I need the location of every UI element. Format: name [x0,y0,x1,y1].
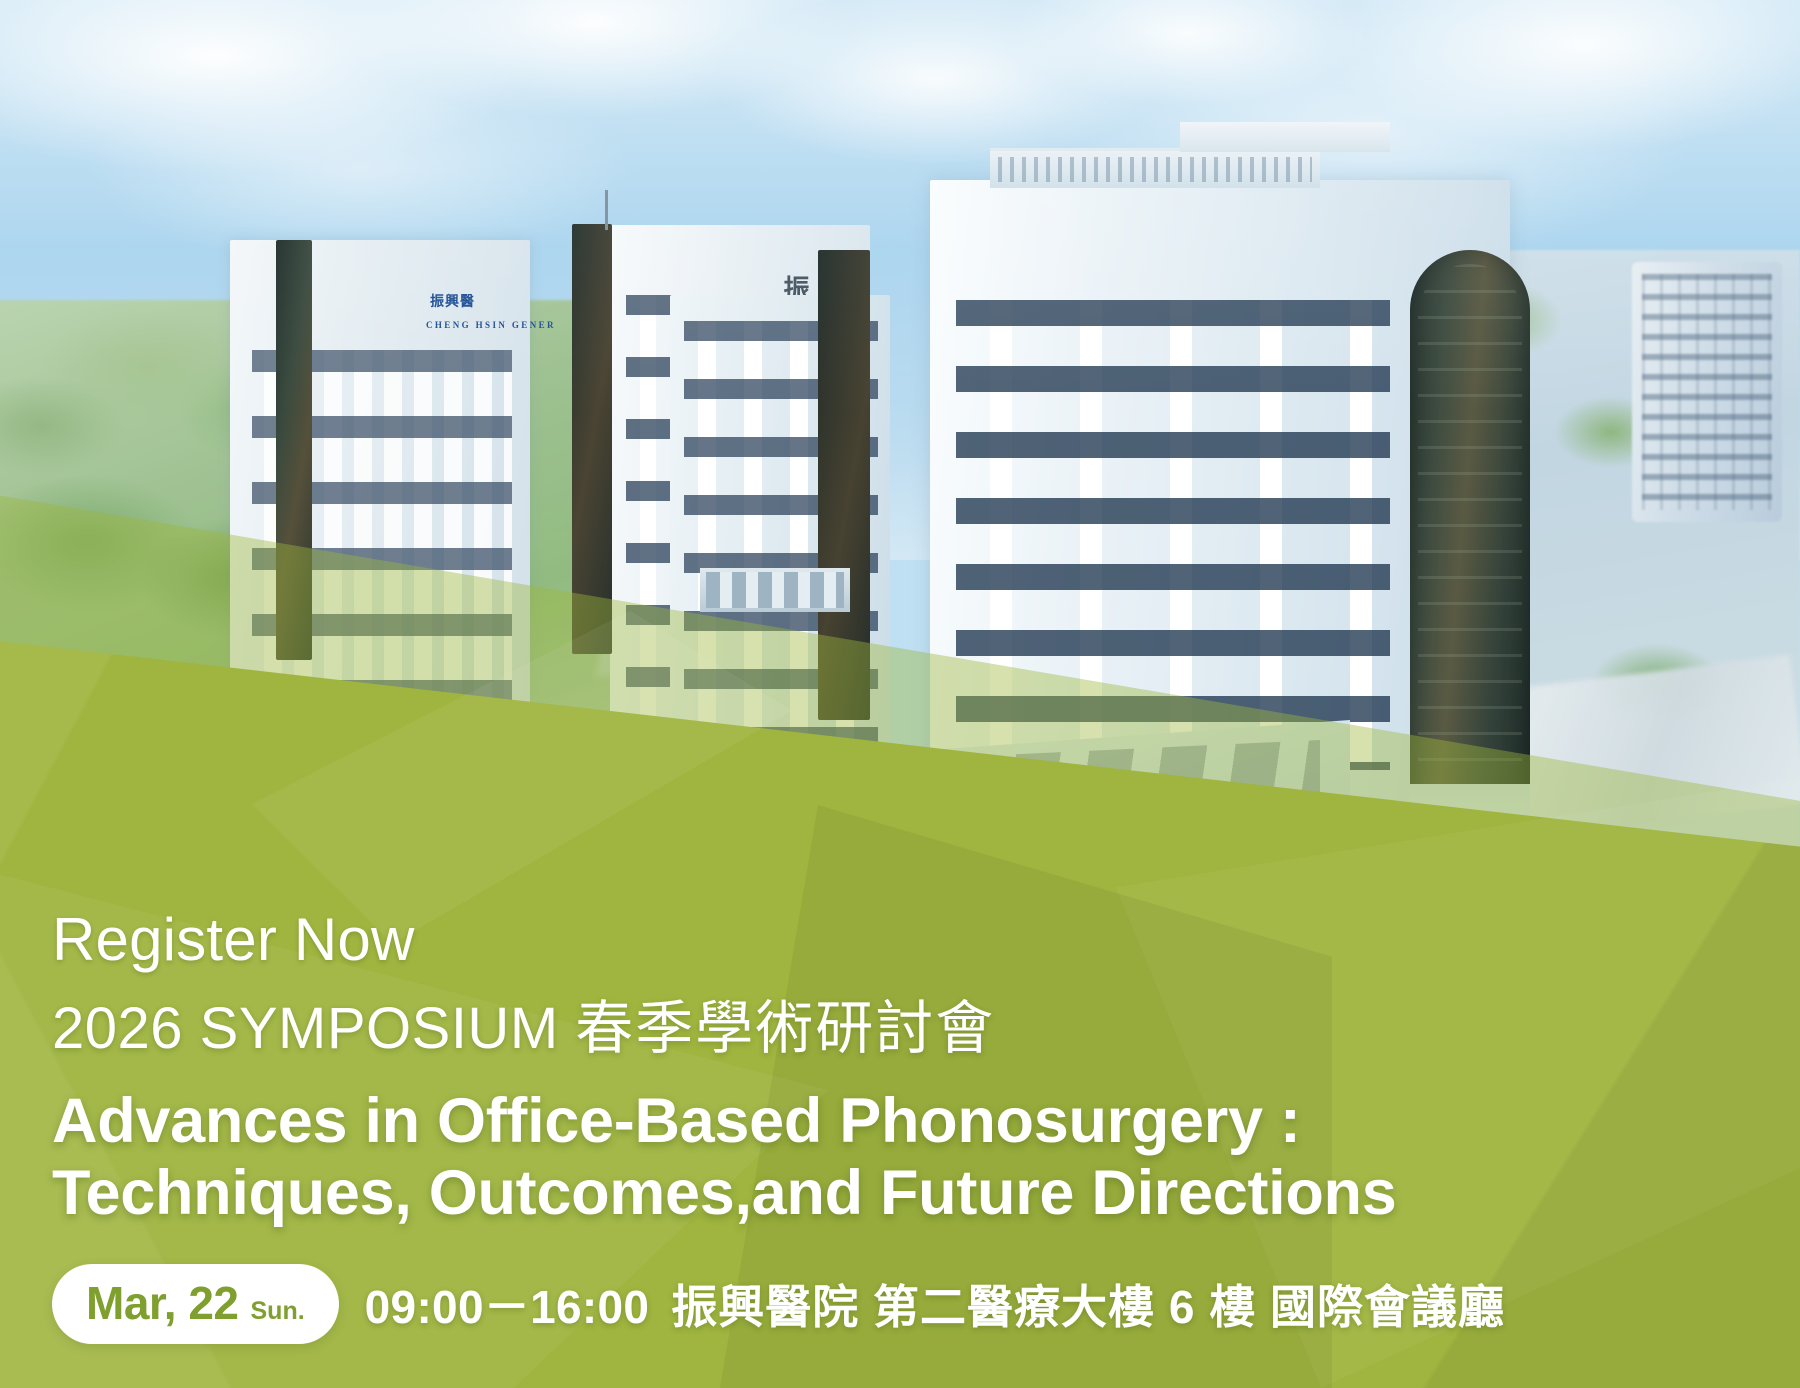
weekday-value: Sun. [251,1297,305,1326]
window-grid-main [956,300,1390,770]
date-badge: Mar, 22 Sun. [52,1264,339,1344]
event-info-bar: Mar, 22 Sun. 09:00－16:00 振興醫院 第二醫療大樓 6 樓… [52,1264,1748,1344]
distant-tower [1632,262,1782,522]
title-line-2: Techniques, Outcomes,and Future Directio… [52,1158,1748,1230]
time-and-venue: 09:00－16:00 振興醫院 第二醫療大樓 6 樓 國際會議廳 [365,1271,1505,1337]
symposium-banner: 振興醫 CHENG HSIN GENER 振興醫院 [0,0,1800,1388]
rooftop-equipment-b [1180,122,1390,152]
rooftop-antenna [605,190,608,230]
title-line-1: Advances in Office-Based Phonosurgery : [52,1086,1301,1156]
banner-content: Register Now 2026 SYMPOSIUM 春季學術研討會 Adva… [0,909,1800,1388]
time-range: 09:00－16:00 [365,1271,650,1337]
glass-spine-1 [276,240,312,660]
hospital-sign-zh: 振興醫 [430,284,530,318]
hospital-sign-en: CHENG HSIN GENER [426,320,556,330]
date-value: Mar, 22 [86,1276,239,1330]
event-zh-label: 春季學術研討會 [575,996,995,1061]
glass-spine-3 [818,250,870,720]
rooftop-machinery [700,568,850,612]
register-now-label: Register Now [52,906,415,973]
event-year-label: 2026 SYMPOSIUM [52,996,559,1061]
event-subtitle: 2026 SYMPOSIUM 春季學術研討會 [52,997,1748,1061]
venue-name: 振興醫院 第二醫療大樓 6 樓 國際會議廳 [671,1271,1505,1337]
page-title: Advances in Office-Based Phonosurgery : … [52,1086,1748,1230]
glass-cylinder-tower [1410,250,1530,870]
glass-spine-2 [572,224,612,654]
rooftop-equipment-a [990,148,1320,188]
register-now-cta[interactable]: Register Now [52,909,415,970]
